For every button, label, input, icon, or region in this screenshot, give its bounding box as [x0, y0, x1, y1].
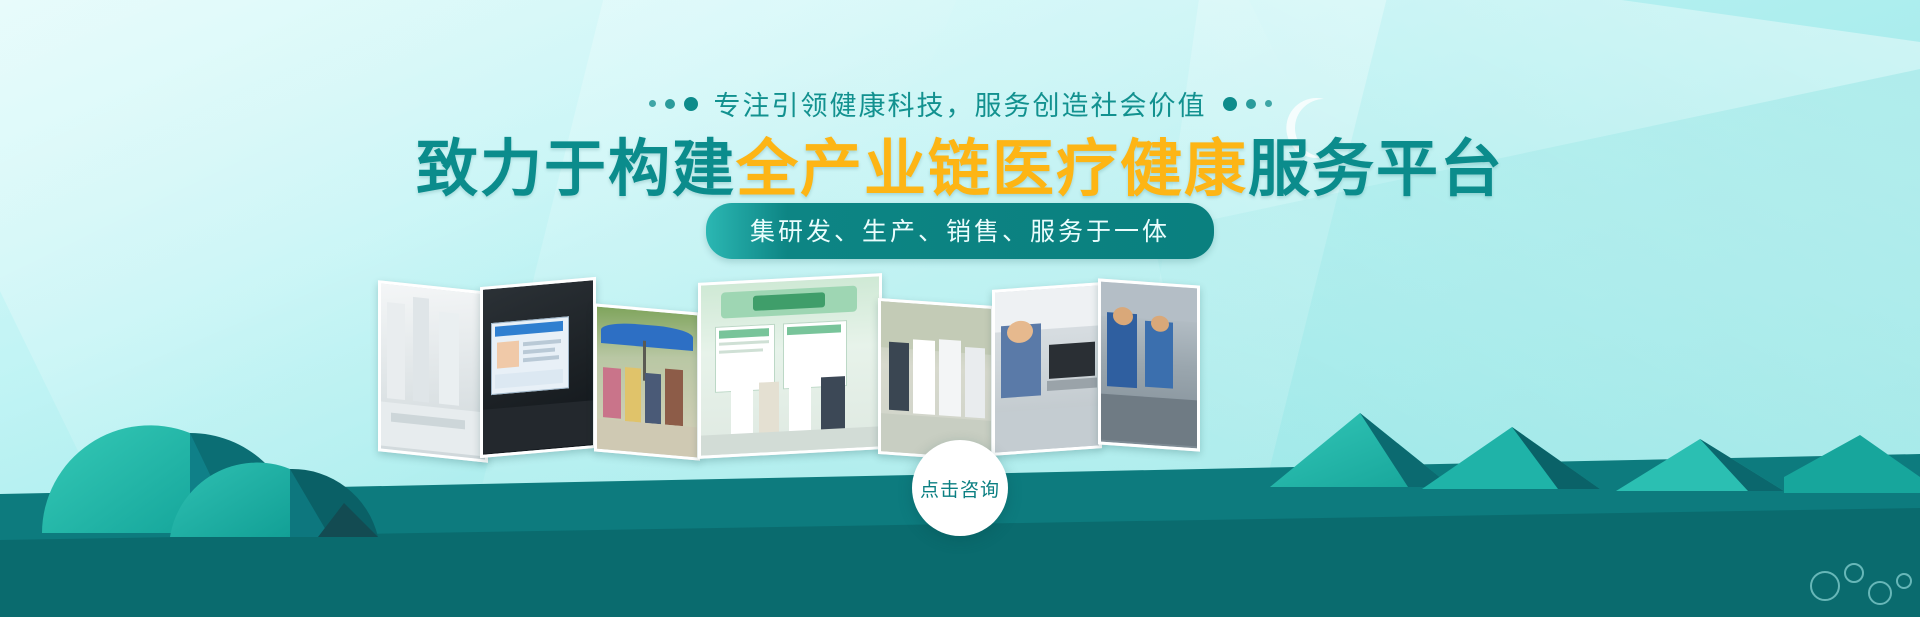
- photo-strip: [378, 278, 1198, 458]
- photo-lab-equipment: [378, 280, 488, 463]
- promo-banner: 专注引领健康科技，服务创造社会价值 致力于构建全产业链医疗健康服务平台 集研发、…: [0, 0, 1920, 617]
- photo-workshop-line: [1098, 278, 1200, 451]
- subtitle-pill-wrap: 集研发、生产、销售、服务于一体: [0, 203, 1920, 259]
- bubble-icon: [1810, 571, 1840, 601]
- photo-health-kiosk: [698, 273, 882, 459]
- bubble-icon: [1868, 581, 1892, 605]
- dot-large-icon: [1223, 97, 1237, 111]
- dot-small-icon: [649, 100, 656, 107]
- page-title: 致力于构建全产业链医疗健康服务平台: [0, 118, 1920, 208]
- dot-medium-icon: [1246, 99, 1256, 109]
- subtitle-pill: 集研发、生产、销售、服务于一体: [706, 203, 1214, 259]
- photo-outdoor-clinic: [594, 303, 700, 460]
- dot-small-icon: [1265, 100, 1272, 107]
- photo-screening-monitor: [480, 277, 596, 458]
- decorative-dots-right: [1223, 97, 1272, 111]
- consult-button-label: 点击咨询: [920, 475, 1000, 502]
- bubble-icon: [1844, 563, 1864, 583]
- headline-part-1: 致力于构建: [416, 135, 736, 204]
- dot-medium-icon: [665, 99, 675, 109]
- headline-part-3: 服务平台: [1248, 135, 1504, 204]
- photo-technician-desk: [992, 282, 1102, 456]
- photo-doctors-street: [878, 298, 994, 462]
- headline-part-2-highlight: 全产业链医疗健康: [736, 135, 1248, 204]
- consult-button[interactable]: 点击咨询: [912, 440, 1008, 536]
- bubble-icon: [1896, 573, 1912, 589]
- dot-large-icon: [684, 97, 698, 111]
- decorative-dots-left: [649, 97, 698, 111]
